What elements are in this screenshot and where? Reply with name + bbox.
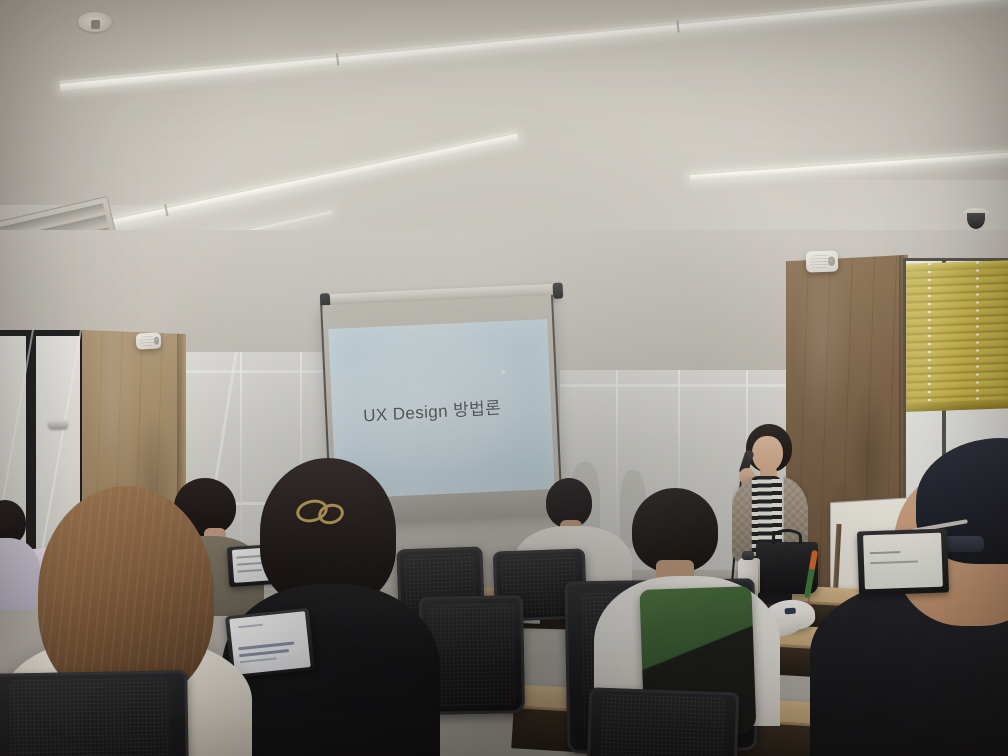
screen-text-line bbox=[239, 649, 289, 657]
speaker-cone bbox=[153, 337, 158, 344]
screen-dust-speck bbox=[501, 370, 505, 374]
chair-frame bbox=[0, 670, 189, 756]
glass-band bbox=[560, 384, 788, 387]
speaker-grille bbox=[139, 336, 155, 347]
housing-end-cap-right bbox=[553, 282, 564, 298]
chair-frame bbox=[587, 687, 740, 756]
sprinkler-icon bbox=[78, 12, 112, 32]
door-handle[interactable] bbox=[48, 420, 68, 429]
screen-text-line bbox=[240, 657, 276, 663]
seminar-room-photo: UX Design 방법론 • • • • bbox=[0, 0, 1008, 756]
tablet-screen bbox=[229, 611, 310, 674]
wall-speaker-left bbox=[136, 332, 162, 349]
screen-text-line bbox=[870, 551, 901, 554]
tablet-device[interactable] bbox=[225, 608, 315, 678]
laptop-device[interactable] bbox=[857, 528, 949, 595]
chair[interactable] bbox=[0, 670, 189, 756]
sprinkler-head bbox=[91, 20, 100, 29]
head bbox=[38, 486, 214, 702]
camera-dome bbox=[967, 213, 986, 229]
laptop-screen bbox=[863, 533, 942, 589]
speaker-cone bbox=[828, 256, 835, 265]
blinds-highlight bbox=[906, 260, 1008, 412]
attendee-gold-hairclip-black-top bbox=[240, 458, 430, 756]
wall-speaker-right bbox=[806, 250, 839, 272]
cap-logo bbox=[785, 607, 796, 614]
dome-camera-icon bbox=[963, 208, 989, 230]
venetian-blinds[interactable] bbox=[906, 260, 1008, 412]
screen-text-line bbox=[870, 561, 918, 565]
slide-title: UX Design 방법론 bbox=[362, 393, 501, 426]
ceiling-shadow-left bbox=[0, 0, 327, 205]
chair[interactable] bbox=[587, 687, 740, 756]
screen-text-line bbox=[238, 623, 264, 628]
